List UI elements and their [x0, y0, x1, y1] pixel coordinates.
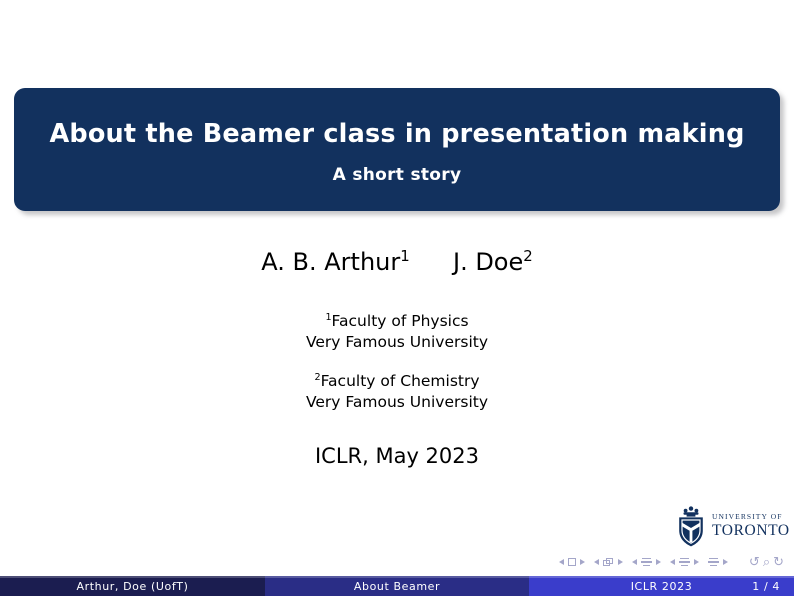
slide-icon[interactable] [568, 558, 576, 566]
next-appendix-icon[interactable] [723, 559, 728, 565]
presentation-title: About the Beamer class in presentation m… [49, 120, 744, 148]
footer-author: Arthur, Doe (UofT) [0, 576, 265, 596]
footer-date: ICLR 2023 1 / 4 [529, 576, 794, 596]
footer-center-highlight [265, 576, 529, 578]
subsection-navigation-group[interactable] [632, 558, 661, 567]
forward-icon[interactable]: ↻ [773, 556, 784, 569]
university-logo-text: UNIVERSITY OF TORONTO [712, 513, 790, 538]
author-2-name: J. Doe [453, 248, 523, 276]
affiliation-2-institution: Very Famous University [0, 392, 794, 413]
next-section-icon[interactable] [694, 559, 699, 565]
author-2-marker: 2 [523, 247, 532, 265]
affiliation-2-department-line: 2Faculty of Chemistry [0, 371, 794, 392]
affiliation-2-department: Faculty of Chemistry [321, 372, 480, 390]
affiliation-1-institution: Very Famous University [0, 332, 794, 353]
find-icon[interactable]: ⌕ [763, 556, 770, 569]
next-frame-icon[interactable] [618, 559, 623, 565]
beamer-navigation-symbols[interactable]: ↺ ⌕ ↻ [498, 554, 784, 570]
university-logo: UNIVERSITY OF TORONTO [676, 503, 784, 548]
shield-crest-icon [676, 505, 706, 547]
author-2: J. Doe2 [453, 248, 533, 276]
presentation-date: ICLR, May 2023 [0, 444, 794, 468]
next-subsection-icon[interactable] [656, 559, 661, 565]
affiliation-1: 1Faculty of Physics Very Famous Universi… [0, 311, 794, 353]
prev-frame-icon[interactable] [594, 559, 599, 565]
frame-icon[interactable] [603, 558, 614, 567]
subsection-icon[interactable] [641, 558, 652, 567]
section-navigation-group[interactable] [670, 558, 699, 567]
document-navigation-group[interactable]: ↺ ⌕ ↻ [749, 556, 784, 569]
footer-date-label: ICLR 2023 [631, 580, 693, 593]
footer-author-label: Arthur, Doe (UofT) [76, 580, 188, 593]
author-1-name: A. B. Arthur [261, 248, 400, 276]
back-icon[interactable]: ↺ [749, 556, 760, 569]
author-1: A. B. Arthur1 [261, 248, 409, 276]
affiliation-1-department-line: 1Faculty of Physics [0, 311, 794, 332]
university-logo-line-1: UNIVERSITY OF [712, 513, 790, 521]
footer-page-number: 1 / 4 [752, 576, 780, 596]
author-list: A. B. Arthur1 J. Doe2 [0, 248, 794, 276]
presentation-subtitle: A short story [333, 165, 462, 185]
footer-title-label: About Beamer [354, 580, 440, 593]
footer-title: About Beamer [265, 576, 529, 596]
next-slide-icon[interactable] [580, 559, 585, 565]
frame-navigation-group[interactable] [594, 558, 623, 567]
title-block: About the Beamer class in presentation m… [14, 88, 780, 211]
prev-slide-icon[interactable] [559, 559, 564, 565]
section-icon[interactable] [679, 558, 690, 567]
appendix-navigation-group[interactable] [708, 558, 728, 567]
beamer-title-slide: About the Beamer class in presentation m… [0, 0, 794, 596]
appendix-icon[interactable] [708, 558, 719, 567]
footer-right-inner: ICLR 2023 1 / 4 [529, 576, 794, 596]
affiliation-1-department: Faculty of Physics [332, 312, 469, 330]
footer-left-highlight [0, 576, 265, 578]
footer-bar: Arthur, Doe (UofT) About Beamer ICLR 202… [0, 576, 794, 596]
prev-section-icon[interactable] [670, 559, 675, 565]
university-logo-line-2: TORONTO [712, 523, 790, 539]
author-1-marker: 1 [400, 247, 409, 265]
slide-navigation-group[interactable] [559, 558, 585, 566]
prev-subsection-icon[interactable] [632, 559, 637, 565]
affiliation-2: 2Faculty of Chemistry Very Famous Univer… [0, 371, 794, 413]
